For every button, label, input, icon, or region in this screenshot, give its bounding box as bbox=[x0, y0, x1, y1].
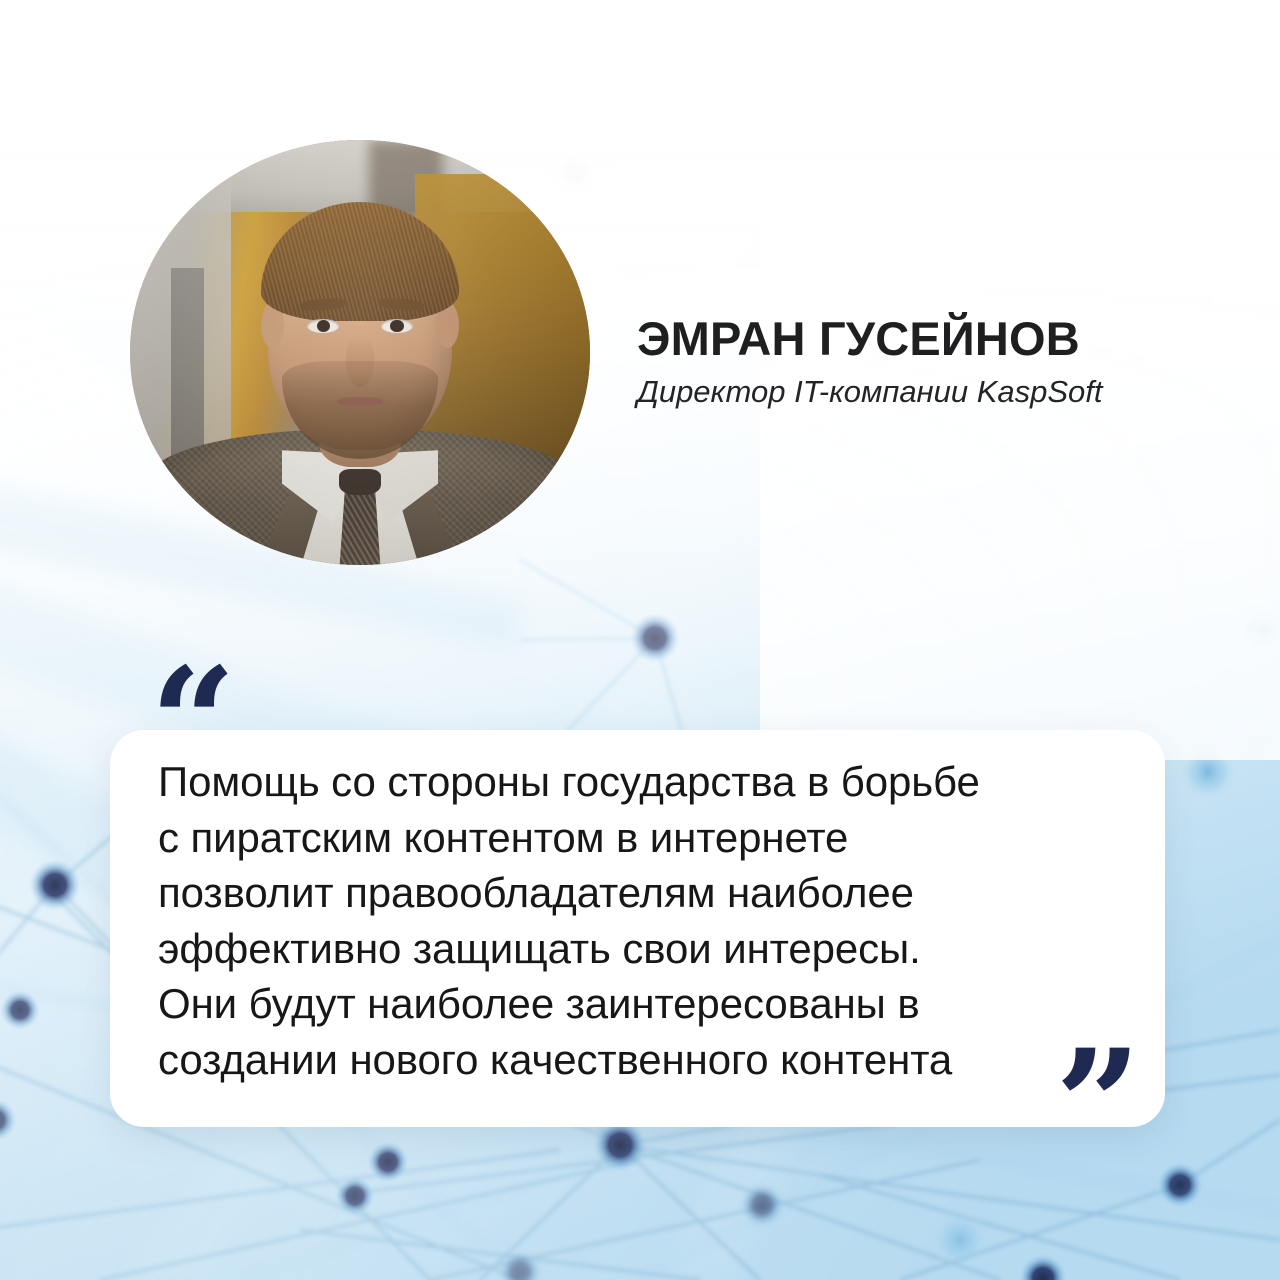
quote-text: Помощь со стороны государства в борьбе с… bbox=[158, 754, 1139, 1087]
photo-vignette bbox=[130, 140, 590, 565]
quote-card-graphic: ЭМРАН ГУСЕЙНОВ Директор IT-компании Kasp… bbox=[0, 0, 1280, 1280]
avatar bbox=[130, 140, 590, 565]
person-info: ЭМРАН ГУСЕЙНОВ Директор IT-компании Kasp… bbox=[637, 314, 1103, 409]
avatar-photo bbox=[130, 140, 590, 565]
person-role: Директор IT-компании KaspSoft bbox=[637, 375, 1103, 409]
quote-close-mark-icon: ” bbox=[1055, 1030, 1137, 1180]
person-name: ЭМРАН ГУСЕЙНОВ bbox=[637, 314, 1103, 364]
quote-card: Помощь со стороны государства в борьбе с… bbox=[110, 730, 1165, 1127]
quote-open-mark-icon: “ bbox=[150, 648, 232, 798]
